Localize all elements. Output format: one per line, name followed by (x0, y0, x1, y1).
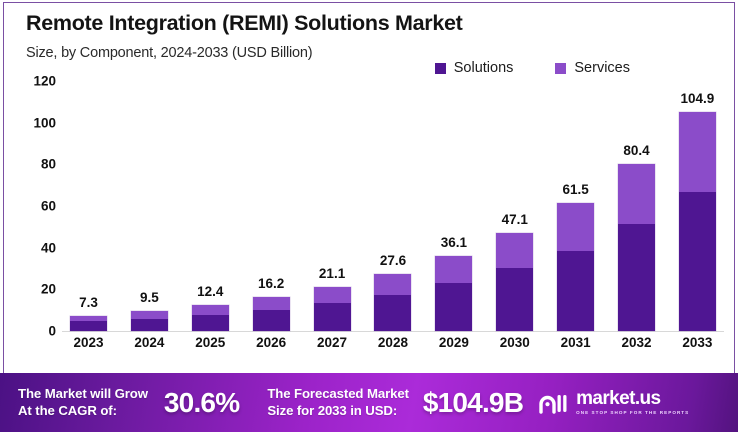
bar-segment-solutions[interactable] (253, 310, 290, 331)
x-axis-tick: 2033 (679, 335, 716, 350)
bar-segment-services[interactable] (618, 164, 655, 224)
footer-bar: The Market will Grow At the CAGR of: 30.… (0, 373, 738, 432)
brand-tagline: ONE STOP SHOP FOR THE REPORTS (576, 411, 689, 416)
stacked-bar[interactable] (374, 274, 411, 332)
forecast-caption-line1: The Forecasted Market (267, 386, 409, 403)
legend-item-solutions[interactable]: Solutions (435, 60, 514, 76)
bar-column[interactable]: 12.4 (192, 81, 229, 331)
stacked-bar[interactable] (618, 164, 655, 332)
bar-segment-solutions[interactable] (435, 283, 472, 331)
bar-group: 7.39.512.416.221.127.636.147.161.580.410… (62, 81, 724, 331)
bar-segment-services[interactable] (131, 311, 168, 318)
y-axis-tick: 60 (41, 199, 56, 214)
bar-value-label: 12.4 (197, 284, 223, 299)
bar-column[interactable]: 61.5 (557, 81, 594, 331)
y-axis-tick: 20 (41, 282, 56, 297)
cagr-caption: The Market will Grow At the CAGR of: (18, 386, 148, 420)
bar-value-label: 47.1 (502, 212, 528, 227)
chart-card: Remote Integration (REMI) Solutions Mark… (3, 2, 735, 373)
forecast-caption: The Forecasted Market Size for 2033 in U… (267, 386, 409, 420)
bar-column[interactable]: 27.6 (374, 81, 411, 331)
bar-value-label: 104.9 (681, 91, 715, 106)
bar-segment-services[interactable] (496, 233, 533, 268)
stacked-bar[interactable] (314, 287, 351, 331)
square-swatch-icon (555, 63, 566, 74)
brand-text: market.us ONE STOP SHOP FOR THE REPORTS (576, 389, 689, 415)
brand-logo[interactable]: market.us ONE STOP SHOP FOR THE REPORTS (539, 389, 689, 415)
bar-column[interactable]: 21.1 (314, 81, 351, 331)
bar-segment-solutions[interactable] (192, 315, 229, 331)
legend-label: Services (574, 60, 630, 76)
bar-column[interactable]: 104.9 (679, 81, 716, 331)
forecast-value: $104.9B (423, 387, 523, 419)
bar-value-label: 61.5 (562, 182, 588, 197)
bar-segment-solutions[interactable] (679, 192, 716, 331)
x-axis-tick: 2031 (557, 335, 594, 350)
x-axis-tick: 2032 (618, 335, 655, 350)
x-axis-tick: 2027 (314, 335, 351, 350)
forecast-caption-line2: Size for 2033 in USD: (267, 403, 409, 420)
bar-segment-solutions[interactable] (557, 251, 594, 331)
bar-segment-solutions[interactable] (618, 224, 655, 331)
x-axis-tick: 2028 (374, 335, 411, 350)
bar-value-label: 21.1 (319, 266, 345, 281)
y-axis-tick: 120 (33, 74, 56, 89)
bar-segment-solutions[interactable] (374, 295, 411, 331)
bar-segment-solutions[interactable] (70, 321, 107, 331)
x-axis-tick: 2023 (70, 335, 107, 350)
bar-value-label: 7.3 (79, 295, 98, 310)
brand-name: market.us (576, 389, 689, 408)
bar-value-label: 16.2 (258, 276, 284, 291)
cagr-block: The Market will Grow At the CAGR of: 30.… (18, 386, 239, 420)
page-title: Remote Integration (REMI) Solutions Mark… (26, 11, 463, 36)
market-us-logo-icon (539, 392, 569, 414)
stacked-bar[interactable] (496, 233, 533, 331)
x-axis-tick: 2026 (253, 335, 290, 350)
stacked-bar[interactable] (70, 316, 107, 331)
bar-column[interactable]: 80.4 (618, 81, 655, 331)
bar-value-label: 80.4 (623, 143, 649, 158)
chart-legend: Solutions Services (435, 60, 630, 76)
bar-column[interactable]: 9.5 (131, 81, 168, 331)
y-axis-tick: 100 (33, 115, 56, 130)
bar-segment-services[interactable] (435, 256, 472, 283)
x-axis-tick: 2029 (435, 335, 472, 350)
x-axis-tick: 2024 (131, 335, 168, 350)
plot-area: 020406080100120 7.39.512.416.221.127.636… (18, 81, 724, 364)
chart-subtitle: Size, by Component, 2024-2033 (USD Billi… (26, 45, 312, 61)
stacked-bar[interactable] (131, 311, 168, 331)
y-axis-tick: 80 (41, 157, 56, 172)
bar-column[interactable]: 36.1 (435, 81, 472, 331)
cagr-value: 30.6% (164, 387, 239, 419)
bar-segment-solutions[interactable] (131, 319, 168, 332)
y-axis-tick: 0 (48, 324, 56, 339)
square-swatch-icon (435, 63, 446, 74)
bar-segment-services[interactable] (679, 112, 716, 192)
stacked-bar[interactable] (557, 203, 594, 331)
bar-column[interactable]: 47.1 (496, 81, 533, 331)
bar-segment-services[interactable] (314, 287, 351, 303)
bar-segment-solutions[interactable] (496, 268, 533, 331)
stacked-bar[interactable] (679, 112, 716, 331)
x-axis-tick: 2025 (192, 335, 229, 350)
x-axis-tick: 2030 (496, 335, 533, 350)
y-axis: 020406080100120 (18, 81, 62, 331)
bar-segment-services[interactable] (192, 305, 229, 315)
bar-segment-solutions[interactable] (314, 303, 351, 331)
stacked-bar[interactable] (253, 297, 290, 331)
bar-column[interactable]: 7.3 (70, 81, 107, 331)
y-axis-tick: 40 (41, 240, 56, 255)
chart-screenshot: Remote Integration (REMI) Solutions Mark… (0, 0, 738, 432)
bar-segment-services[interactable] (557, 203, 594, 251)
cagr-caption-line2: At the CAGR of: (18, 403, 148, 420)
stacked-bar[interactable] (435, 256, 472, 331)
legend-item-services[interactable]: Services (555, 60, 630, 76)
legend-label: Solutions (454, 60, 514, 76)
bar-segment-services[interactable] (253, 297, 290, 309)
axis-baseline (62, 331, 724, 332)
bar-value-label: 9.5 (140, 290, 159, 305)
bar-value-label: 27.6 (380, 253, 406, 268)
forecast-block: The Forecasted Market Size for 2033 in U… (267, 386, 523, 420)
cagr-caption-line1: The Market will Grow (18, 386, 148, 403)
x-axis: 2023202420252026202720282029203020312032… (62, 335, 724, 350)
bar-column[interactable]: 16.2 (253, 81, 290, 331)
bar-segment-services[interactable] (374, 274, 411, 295)
stacked-bar[interactable] (192, 305, 229, 331)
bar-value-label: 36.1 (441, 235, 467, 250)
